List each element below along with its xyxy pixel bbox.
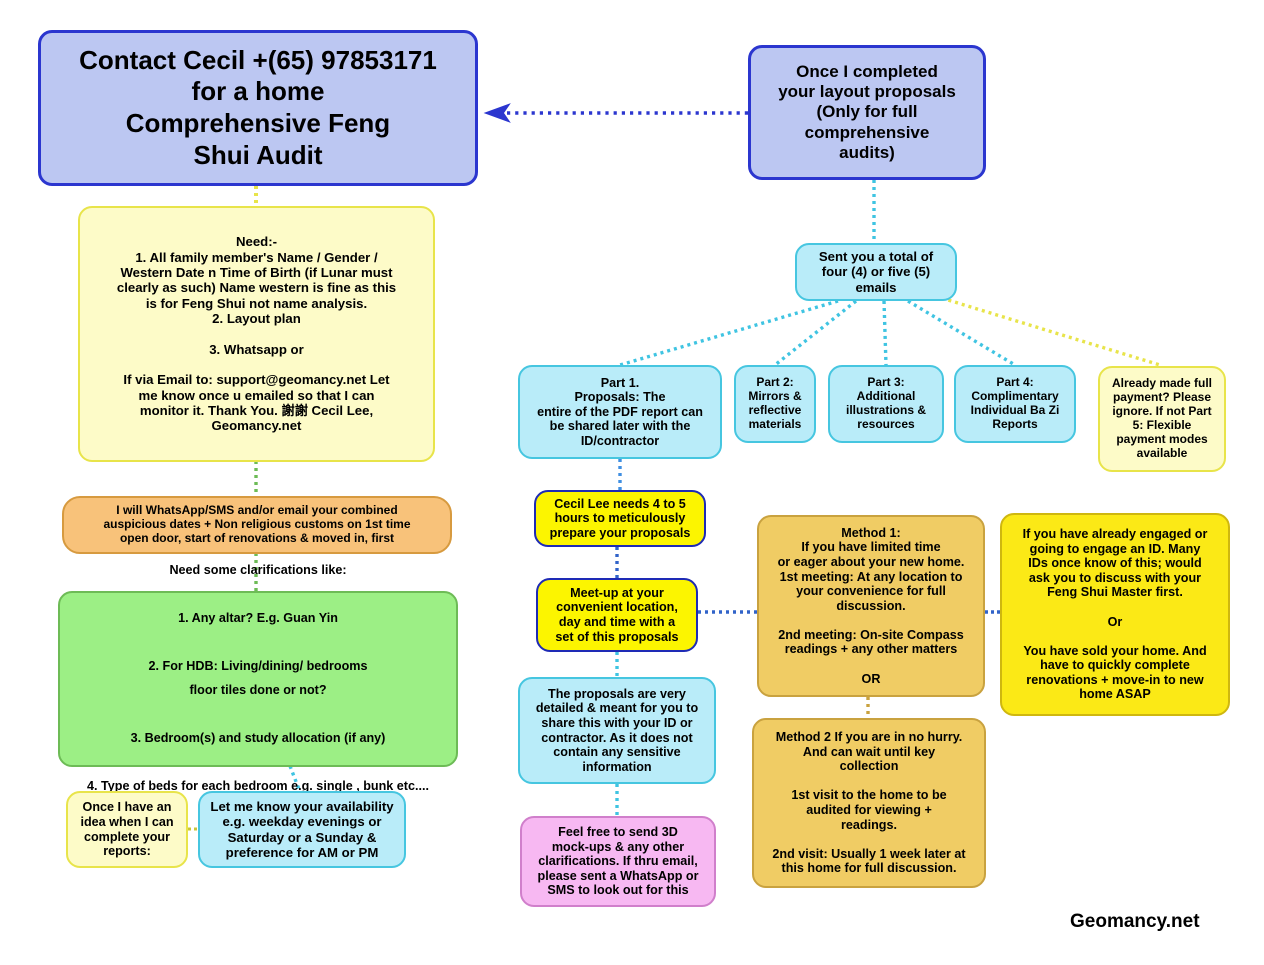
node-sent-emails-text: Sent you a total of four (4) or five (5)…: [819, 249, 933, 295]
node-part4[interactable]: Part 4: Complimentary Individual Ba Zi R…: [954, 365, 1076, 443]
connector-sent-to-part2: [775, 301, 856, 365]
node-contact-cecil-text: Contact Cecil +(65) 97853171 for a home …: [79, 45, 437, 172]
node-engaged-id-text: If you have already engaged or going to …: [1023, 527, 1208, 702]
node-proposals-detail[interactable]: The proposals are very detailed & meant …: [518, 677, 716, 784]
node-method1[interactable]: Method 1: If you have limited time or ea…: [757, 515, 985, 697]
node-sent-emails[interactable]: Sent you a total of four (4) or five (5)…: [795, 243, 957, 301]
brand-label-text: Geomancy.net: [1070, 911, 1200, 932]
connector-sent-to-part1: [620, 301, 838, 365]
node-once-idea-text: Once I have an idea when I can complete …: [80, 800, 173, 858]
node-whatsapp-dates-text: I will WhatsApp/SMS and/or email your co…: [103, 504, 410, 546]
node-part3[interactable]: Part 3: Additional illustrations & resou…: [828, 365, 944, 443]
brand-label: Geomancy.net: [1070, 911, 1200, 933]
node-need-list-text: Need:- 1. All family member's Name / Gen…: [117, 234, 396, 433]
node-engaged-id[interactable]: If you have already engaged or going to …: [1000, 513, 1230, 716]
node-part2-text: Part 2: Mirrors & reflective materials: [748, 376, 801, 432]
node-whatsapp-dates[interactable]: I will WhatsApp/SMS and/or email your co…: [62, 496, 452, 554]
node-availability-text: Let me know your availability e.g. weekd…: [210, 799, 393, 860]
node-once-completed-text: Once I completed your layout proposals (…: [778, 62, 956, 164]
node-mockups[interactable]: Feel free to send 3D mock-ups & any othe…: [520, 816, 716, 907]
node-mockups-text: Feel free to send 3D mock-ups & any othe…: [538, 825, 699, 898]
node-part1-text: Part 1. Proposals: The entire of the PDF…: [537, 376, 703, 449]
node-meetup[interactable]: Meet-up at your convenient location, day…: [536, 578, 698, 652]
node-once-idea[interactable]: Once I have an idea when I can complete …: [66, 791, 188, 868]
node-method2[interactable]: Method 2 If you are in no hurry. And can…: [752, 718, 986, 888]
node-part4-text: Part 4: Complimentary Individual Ba Zi R…: [971, 376, 1060, 432]
node-need-list[interactable]: Need:- 1. All family member's Name / Gen…: [78, 206, 435, 462]
node-part5-payment[interactable]: Already made full payment? Please ignore…: [1098, 366, 1226, 472]
node-contact-cecil[interactable]: Contact Cecil +(65) 97853171 for a home …: [38, 30, 478, 186]
node-hours-needed-text: Cecil Lee needs 4 to 5 hours to meticulo…: [550, 497, 691, 541]
node-method2-text: Method 2 If you are in no hurry. And can…: [772, 730, 965, 876]
node-part1[interactable]: Part 1. Proposals: The entire of the PDF…: [518, 365, 722, 459]
node-availability[interactable]: Let me know your availability e.g. weekd…: [198, 791, 406, 868]
connector-sent-to-part5: [935, 296, 1160, 365]
node-part2[interactable]: Part 2: Mirrors & reflective materials: [734, 365, 816, 443]
node-clarifications[interactable]: Need some clarifications like: 1. Any al…: [58, 591, 458, 767]
node-hours-needed[interactable]: Cecil Lee needs 4 to 5 hours to meticulo…: [534, 490, 706, 547]
node-once-completed[interactable]: Once I completed your layout proposals (…: [748, 45, 986, 180]
node-clarifications-text: Need some clarifications like: 1. Any al…: [87, 559, 429, 798]
connector-sent-to-part4: [908, 301, 1015, 365]
node-part3-text: Part 3: Additional illustrations & resou…: [846, 376, 926, 432]
flowchart-canvas: Contact Cecil +(65) 97853171 for a home …: [0, 0, 1264, 965]
node-proposals-detail-text: The proposals are very detailed & meant …: [536, 687, 698, 775]
node-part5-payment-text: Already made full payment? Please ignore…: [1112, 377, 1212, 460]
node-meetup-text: Meet-up at your convenient location, day…: [555, 586, 678, 644]
node-method1-text: Method 1: If you have limited time or ea…: [778, 526, 965, 687]
connector-sent-to-part3: [884, 301, 886, 365]
